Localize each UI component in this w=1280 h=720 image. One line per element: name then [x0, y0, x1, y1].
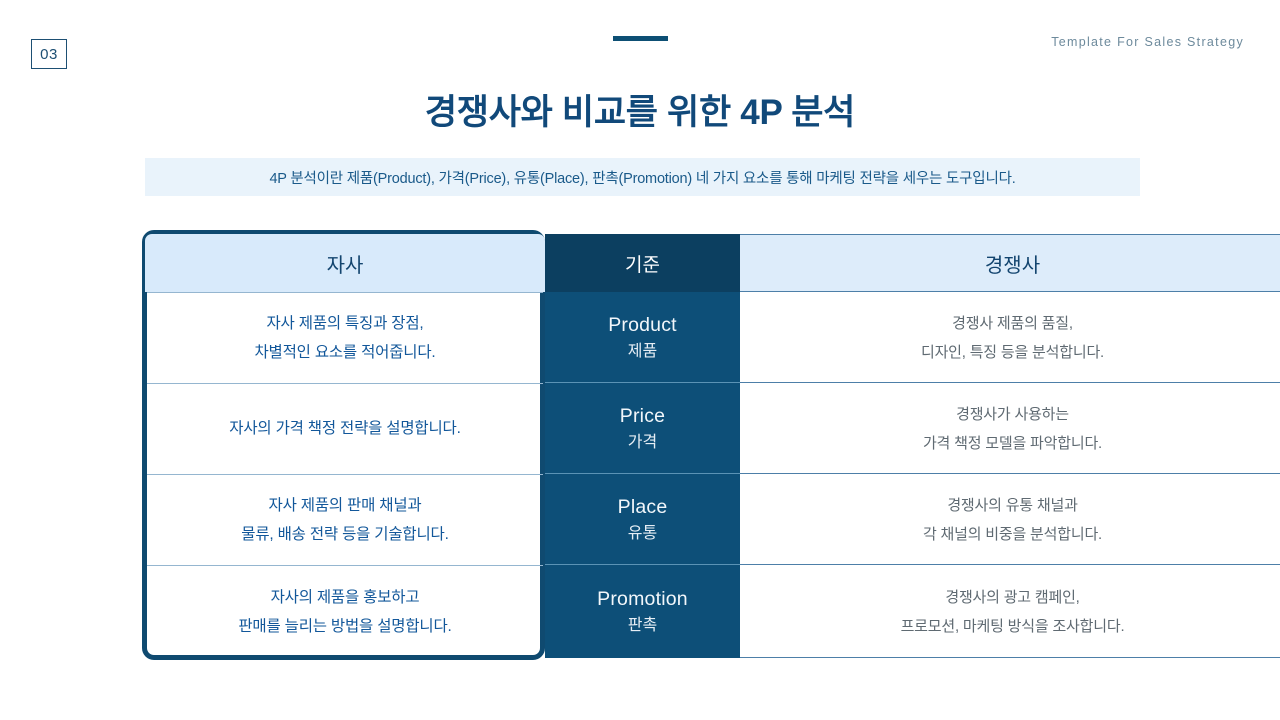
cell-text-line2: 차별적인 요소를 적어줍니다.	[254, 338, 435, 367]
cell-text-line2: 프로모션, 마케팅 방식을 조사합니다.	[901, 612, 1125, 641]
criteria-label-ko: 가격	[628, 430, 657, 455]
criteria-label-en: Place	[618, 494, 668, 521]
cell-text-line1: 경쟁사 제품의 품질,	[952, 309, 1073, 338]
criteria-label-en: Price	[620, 403, 665, 430]
cell-competitor-promotion: 경쟁사의 광고 캠페인, 프로모션, 마케팅 방식을 조사합니다.	[740, 565, 1280, 658]
cell-criteria-place: Place 유통	[545, 474, 740, 565]
subtitle-text: 4P 분석이란 제품(Product), 가격(Price), 유통(Place…	[269, 167, 1015, 188]
criteria-label-ko: 제품	[628, 339, 657, 364]
cell-text-line1: 자사의 제품을 홍보하고	[271, 583, 420, 612]
cell-criteria-price: Price 가격	[545, 383, 740, 474]
criteria-label-ko: 판촉	[628, 613, 657, 638]
right-divider-top	[740, 234, 1280, 235]
cell-own-promotion: 자사의 제품을 홍보하고 판매를 늘리는 방법을 설명합니다.	[145, 565, 545, 658]
cell-text-line1: 자사 제품의 판매 채널과	[269, 491, 422, 520]
cell-criteria-promotion: Promotion 판촉	[545, 565, 740, 658]
page-number-badge: 03	[31, 39, 67, 69]
cell-text-line1: 자사 제품의 특징과 장점,	[266, 309, 423, 338]
slide-root: 03 Template For Sales Strategy 경쟁사와 비교를 …	[0, 0, 1280, 720]
cell-competitor-product: 경쟁사 제품의 품질, 디자인, 특징 등을 분석합니다.	[740, 292, 1280, 383]
top-accent-bar	[613, 36, 668, 41]
column-header-criteria: 기준	[545, 234, 740, 292]
column-competitor: 경쟁사 경쟁사 제품의 품질, 디자인, 특징 등을 분석합니다. 경쟁사가 사…	[740, 234, 1280, 658]
cell-text-line1: 경쟁사의 유통 채널과	[947, 491, 1077, 520]
cell-own-product: 자사 제품의 특징과 장점, 차별적인 요소를 적어줍니다.	[145, 292, 545, 383]
cell-text-line2: 가격 책정 모델을 파악합니다.	[923, 429, 1102, 458]
template-tag-label: Template For Sales Strategy	[1051, 35, 1244, 49]
criteria-label-ko: 유통	[628, 521, 657, 546]
criteria-label-en: Promotion	[597, 586, 688, 613]
column-header-competitor: 경쟁사	[740, 234, 1280, 292]
comparison-table: 경쟁사 경쟁사 제품의 품질, 디자인, 특징 등을 분석합니다. 경쟁사가 사…	[145, 234, 1140, 658]
column-header-competitor-label: 경쟁사	[985, 249, 1040, 278]
cell-competitor-place: 경쟁사의 유통 채널과 각 채널의 비중을 분석합니다.	[740, 474, 1280, 565]
criteria-label-en: Product	[608, 312, 677, 339]
column-header-own-label: 자사	[327, 249, 364, 278]
column-header-own: 자사	[145, 234, 545, 292]
subtitle-band: 4P 분석이란 제품(Product), 가격(Price), 유통(Place…	[145, 158, 1140, 196]
column-criteria: 기준 Product 제품 Price 가격 Place 유통 Promotio…	[545, 234, 740, 658]
cell-text-line2: 판매를 늘리는 방법을 설명합니다.	[238, 612, 451, 641]
cell-text-line2: 물류, 배송 전략 등을 기술합니다.	[241, 520, 448, 549]
cell-own-price: 자사의 가격 책정 전략을 설명합니다.	[145, 383, 545, 474]
cell-text-line2: 각 채널의 비중을 분석합니다.	[923, 520, 1102, 549]
cell-text-line1: 경쟁사의 광고 캠페인,	[945, 583, 1079, 612]
cell-competitor-price: 경쟁사가 사용하는 가격 책정 모델을 파악합니다.	[740, 383, 1280, 474]
column-own-company: 자사 자사 제품의 특징과 장점, 차별적인 요소를 적어줍니다. 자사의 가격…	[145, 234, 545, 658]
cell-text-line2: 디자인, 특징 등을 분석합니다.	[921, 338, 1104, 367]
page-number-label: 03	[40, 46, 58, 63]
cell-text-line1: 경쟁사가 사용하는	[956, 400, 1069, 429]
page-title: 경쟁사와 비교를 위한 4P 분석	[0, 84, 1280, 135]
cell-text-line1: 자사의 가격 책정 전략을 설명합니다.	[229, 414, 460, 443]
cell-criteria-product: Product 제품	[545, 292, 740, 383]
cell-own-place: 자사 제품의 판매 채널과 물류, 배송 전략 등을 기술합니다.	[145, 474, 545, 565]
column-header-criteria-label: 기준	[625, 250, 660, 277]
